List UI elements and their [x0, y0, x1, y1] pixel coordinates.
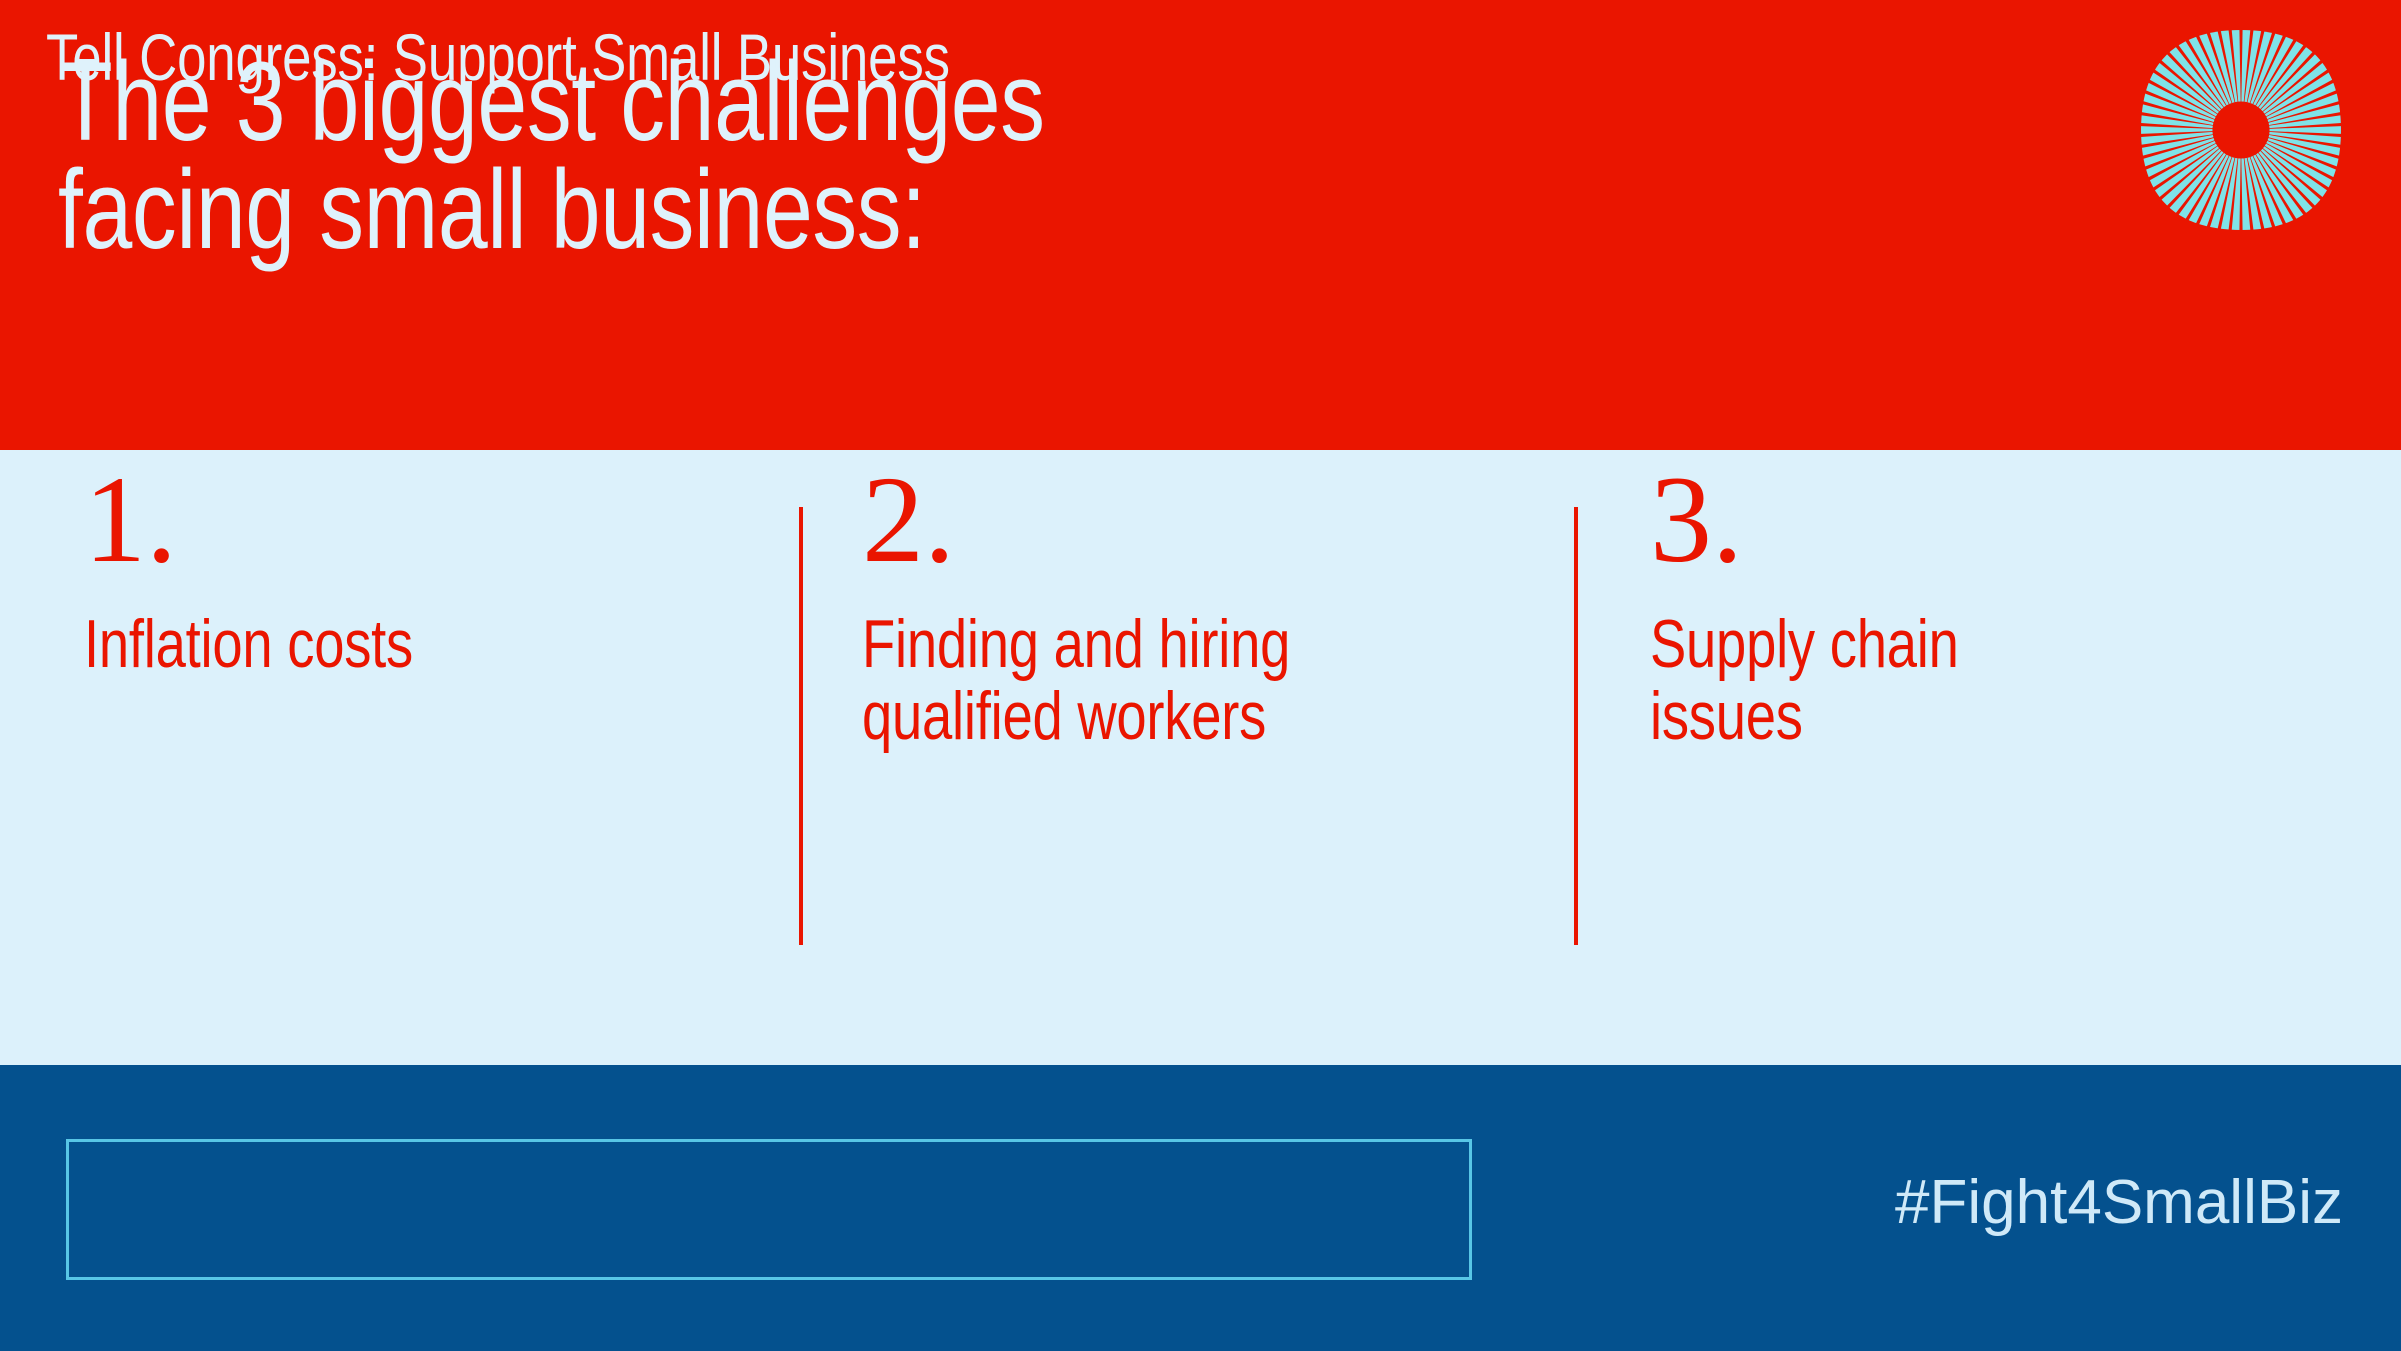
challenge-label: Finding and hiring qualified workers — [862, 608, 1542, 752]
column-divider — [799, 507, 803, 945]
challenge-number: 2. — [862, 458, 955, 582]
challenge-label: Inflation costs — [84, 608, 744, 680]
challenges-list: 1. Inflation costs 2. Finding and hiring… — [0, 450, 2401, 1065]
column-divider — [1574, 507, 1578, 945]
tell-congress-button[interactable] — [66, 1139, 1472, 1280]
hashtag: #Fight4SmallBiz — [1895, 1172, 2343, 1234]
radial-starburst-logo-icon — [2139, 28, 2343, 232]
list-item: 2. Finding and hiring qualified workers — [862, 450, 1542, 1065]
challenge-number: 1. — [84, 458, 177, 582]
challenge-label: Supply chain issues — [1650, 608, 2290, 752]
list-item: 1. Inflation costs — [84, 450, 744, 1065]
tell-congress-button-label: Tell Congress: Support Small Business — [46, 24, 950, 90]
poster-canvas: The 3 biggest challenges facing small bu… — [0, 0, 2401, 1351]
list-item: 3. Supply chain issues — [1650, 450, 2290, 1065]
challenge-number: 3. — [1650, 458, 1743, 582]
